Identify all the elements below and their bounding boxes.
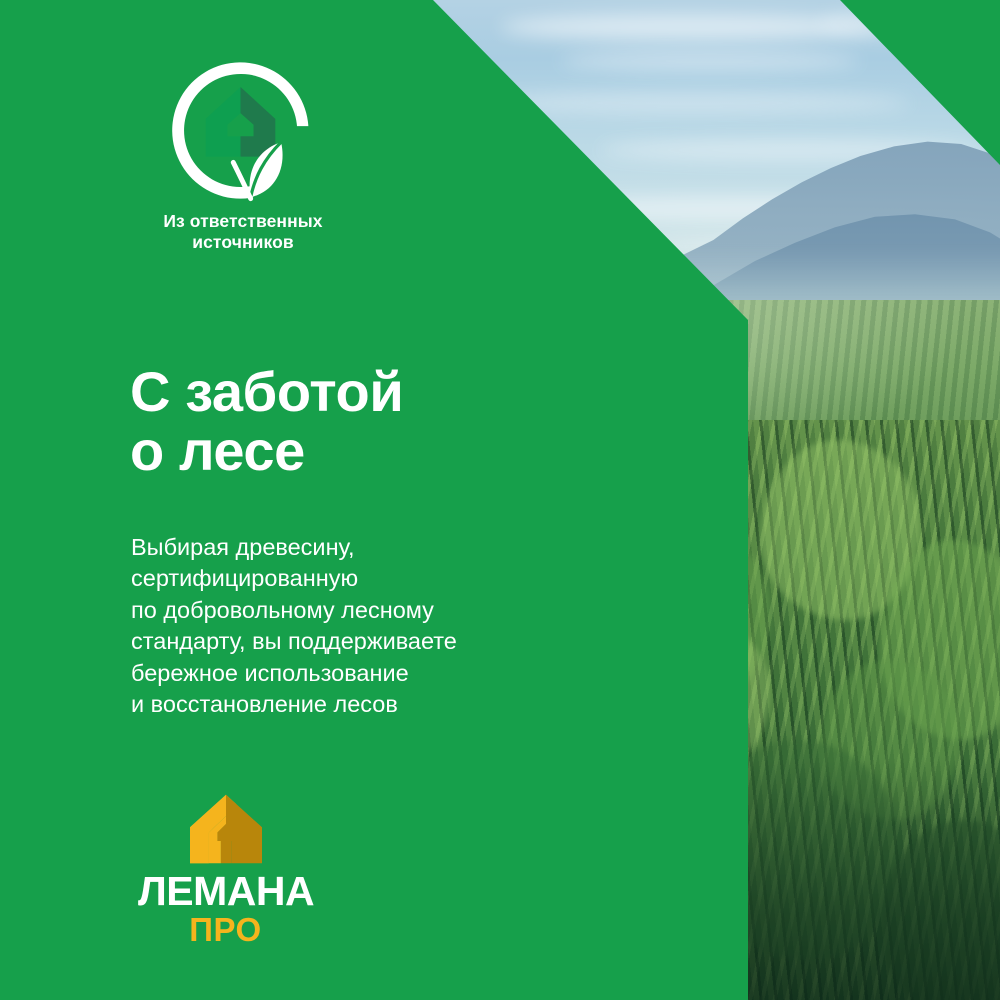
certification-badge-caption: Из ответственных источников (128, 211, 358, 254)
headline-line-1: С заботой (130, 360, 403, 423)
certification-caption-line-2: источников (128, 232, 358, 253)
body-copy-line: сертифицированную (131, 563, 691, 594)
brand-logo: ЛЕМАНА ПРО (138, 793, 313, 946)
poster-canvas: Из ответственных источников С заботой о … (0, 0, 1000, 1000)
brand-name: ЛЕМАНА (138, 871, 313, 912)
poster-content: Из ответственных источников С заботой о … (0, 0, 1000, 1000)
body-copy-line: и восстановление лесов (131, 689, 691, 720)
body-copy-line: Выбирая древесину, (131, 532, 691, 563)
headline-line-2: о лесе (130, 421, 690, 480)
body-copy-line: по добровольному лесному (131, 595, 691, 626)
body-copy-line: стандарту, вы поддерживаете (131, 626, 691, 657)
brand-subtitle: ПРО (138, 913, 313, 946)
body-copy: Выбирая древесину, сертифицированную по … (131, 532, 691, 721)
lemana-house-icon (183, 793, 269, 865)
body-copy-line: бережное использование (131, 658, 691, 689)
certification-badge: Из ответственных источников (128, 58, 378, 254)
certification-caption-line-1: Из ответственных (128, 211, 358, 232)
circle-house-leaf-emblem-icon (168, 58, 313, 203)
headline: С заботой о лесе (130, 362, 690, 481)
